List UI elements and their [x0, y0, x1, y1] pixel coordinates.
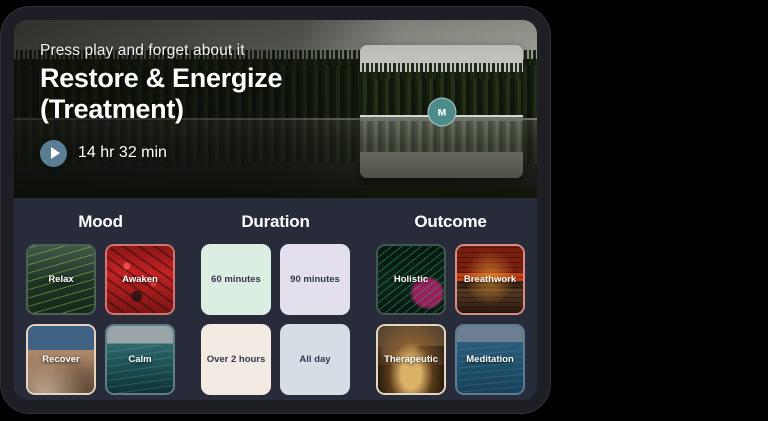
brand-logo-icon: ᴍ: [427, 97, 456, 126]
category-title: Outcome: [414, 212, 486, 232]
option-tile-label: Recover: [39, 354, 83, 365]
option-tile[interactable]: 90 minutes: [280, 244, 350, 315]
category-column-mood: MoodRelaxAwakenRecoverCalm: [26, 212, 175, 400]
hero-eyebrow: Press play and forget about it: [40, 42, 347, 60]
category-title: Duration: [241, 212, 309, 232]
brand-logo-glyph: ᴍ: [438, 106, 446, 118]
option-tile-label: Awaken: [119, 274, 161, 285]
tablet-screen: Press play and forget about it Restore &…: [14, 20, 537, 400]
option-tile-label: Over 2 hours: [204, 354, 269, 365]
option-tile[interactable]: Holistic: [376, 244, 446, 315]
category-column-outcome: OutcomeHolisticBreathworkTherapeuticMedi…: [376, 212, 525, 400]
option-grid: 60 minutes90 minutesOver 2 hoursAll day: [201, 244, 350, 395]
option-tile[interactable]: Recover: [26, 324, 96, 395]
option-tile-label: Calm: [125, 354, 154, 365]
hero-thumbnail-card[interactable]: ᴍ: [360, 45, 523, 178]
option-tile-label: Therapeutic: [381, 354, 441, 365]
screenshot-root: Press play and forget about it Restore &…: [0, 0, 768, 421]
option-tile-label: 90 minutes: [287, 274, 343, 285]
option-tile-label: Holistic: [391, 274, 431, 285]
option-tile[interactable]: Therapeutic: [376, 324, 446, 395]
option-tile[interactable]: All day: [280, 324, 350, 395]
play-icon[interactable]: [40, 140, 67, 167]
selection-panel: MoodRelaxAwakenRecoverCalmDuration60 min…: [14, 198, 537, 400]
option-tile[interactable]: Meditation: [455, 324, 525, 395]
option-tile-label: 60 minutes: [208, 274, 264, 285]
option-tile[interactable]: Over 2 hours: [201, 324, 271, 395]
option-tile-label: All day: [296, 354, 333, 365]
option-tile-label: Meditation: [463, 354, 517, 365]
hero-title: Restore & Energize (Treatment): [40, 63, 347, 125]
hero-banner: Press play and forget about it Restore &…: [14, 20, 537, 198]
tablet-device-frame: Press play and forget about it Restore &…: [0, 6, 551, 414]
category-title: Mood: [78, 212, 123, 232]
thumbnail-water: [360, 121, 523, 178]
hero-duration-label: 14 hr 32 min: [78, 144, 167, 162]
hero-text-block: Press play and forget about it Restore &…: [40, 42, 347, 167]
option-tile[interactable]: Breathwork: [455, 244, 525, 315]
option-tile[interactable]: Relax: [26, 244, 96, 315]
hero-meta-row: 14 hr 32 min: [40, 140, 347, 167]
option-tile-label: Relax: [45, 274, 76, 285]
option-grid: HolisticBreathworkTherapeuticMeditation: [376, 244, 525, 395]
option-tile[interactable]: Awaken: [105, 244, 175, 315]
option-grid: RelaxAwakenRecoverCalm: [26, 244, 175, 395]
option-tile[interactable]: Calm: [105, 324, 175, 395]
option-tile-label: Breathwork: [461, 274, 519, 285]
option-tile[interactable]: 60 minutes: [201, 244, 271, 315]
category-column-duration: Duration60 minutes90 minutesOver 2 hours…: [201, 212, 350, 400]
